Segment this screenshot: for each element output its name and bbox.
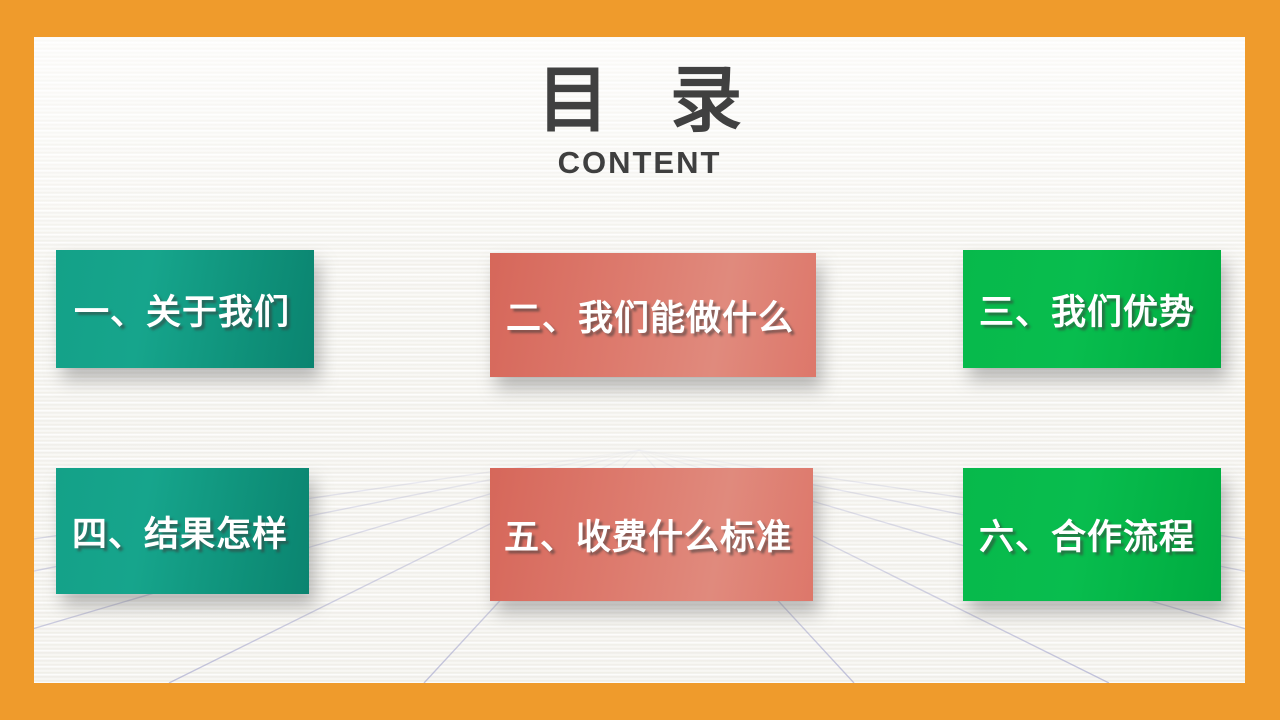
page-subtitle: CONTENT xyxy=(34,139,1245,181)
content-item-label: 四、结果怎样 xyxy=(72,506,309,557)
slide-root: 目 录 CONTENT 一、关于我们 二、我们能做什么 三、我们优势 四、结果怎… xyxy=(0,0,1280,720)
content-item-1[interactable]: 一、关于我们 xyxy=(56,250,314,368)
content-item-label: 二、我们能做什么 xyxy=(506,290,816,341)
content-item-label: 一、关于我们 xyxy=(74,284,314,335)
content-item-5[interactable]: 五、收费什么标准 xyxy=(490,468,813,601)
slide-heading: 目 录 CONTENT xyxy=(34,37,1245,181)
content-item-3[interactable]: 三、我们优势 xyxy=(963,250,1221,368)
slide-content-panel: 目 录 CONTENT 一、关于我们 二、我们能做什么 三、我们优势 四、结果怎… xyxy=(34,37,1245,683)
content-item-4[interactable]: 四、结果怎样 xyxy=(56,468,309,594)
content-item-label: 三、我们优势 xyxy=(979,284,1221,335)
content-item-label: 六、合作流程 xyxy=(979,509,1221,560)
content-item-2[interactable]: 二、我们能做什么 xyxy=(490,253,816,377)
content-item-6[interactable]: 六、合作流程 xyxy=(963,468,1221,601)
page-title: 目 录 xyxy=(34,37,1245,139)
content-item-label: 五、收费什么标准 xyxy=(504,509,813,560)
